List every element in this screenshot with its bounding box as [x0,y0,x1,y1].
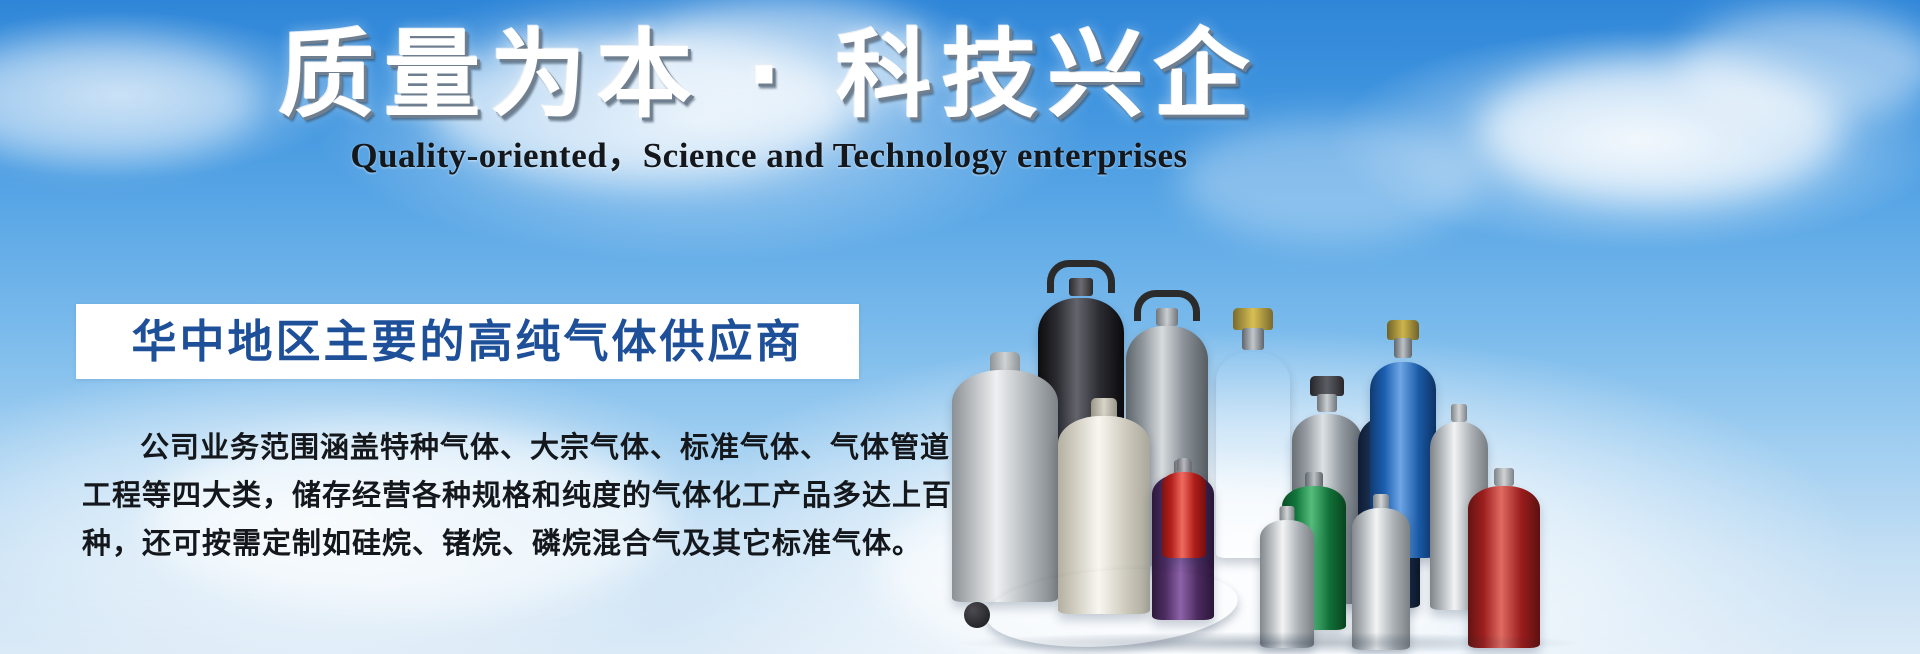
body-line-3: 种，还可按需定制如硅烷、锗烷、磷烷混合气及其它标准气体。 [82,520,872,568]
gas-cylinder-product-image [930,150,1920,654]
product-ground-shadow [960,632,1580,654]
banner-body-copy: 公司业务范围涵盖特种气体、大宗气体、标准气体、气体管道 工程等四大类，储存经营各… [82,424,872,568]
callout-box: 华中地区主要的高纯气体供应商 [76,304,859,379]
cloud-decoration [1680,10,1920,120]
tank-valve-knob [964,602,990,628]
cylinder-red-small [1162,466,1206,558]
body-line-1: 公司业务范围涵盖特种气体、大宗气体、标准气体、气体管道 [82,424,872,472]
bottle-silver-aluminum-short [1260,514,1314,648]
callout-text: 华中地区主要的高纯气体供应商 [131,316,803,368]
banner-headline: 质量为本 · 科技兴企 [0,20,1538,130]
promo-banner: 质量为本 · 科技兴企 Quality-oriented，Science and… [0,0,1920,654]
cylinder-dark-red [1468,478,1540,648]
bottle-silver-aluminum-mid [1352,502,1410,650]
cylinder-white-large [952,362,1058,602]
body-line-2: 工程等四大类，储存经营各种规格和纯度的气体化工产品多达上百 [82,472,872,520]
